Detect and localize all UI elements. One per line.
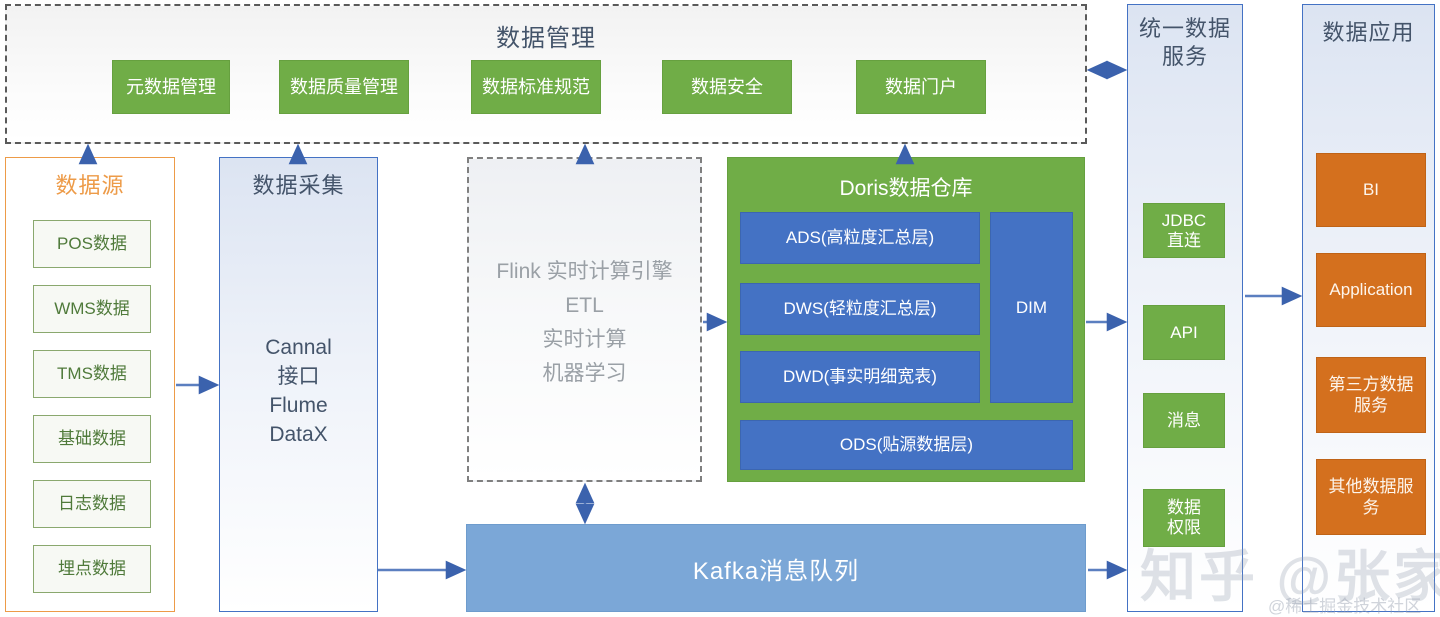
chip-label: 元数据管理	[126, 77, 216, 98]
kafka-label: Kafka消息队列	[693, 551, 859, 586]
chip-label: DIM	[1016, 298, 1047, 318]
chip-label: 日志数据	[58, 494, 126, 514]
chip-label: Application	[1329, 279, 1412, 300]
chip-label: 数据质量管理	[290, 77, 398, 98]
data-source-item-tms[interactable]: TMS数据	[33, 350, 151, 398]
data-source-item-basic[interactable]: 基础数据	[33, 415, 151, 463]
data-collection-panel: 数据采集 Cannal 接口 Flume DataX	[219, 157, 378, 612]
data-application-item-bi[interactable]: BI	[1316, 153, 1426, 227]
chip-label: 数据标准规范	[482, 77, 590, 98]
data-management-item-metadata[interactable]: 元数据管理	[112, 60, 230, 114]
doris-layer-ods[interactable]: ODS(贴源数据层)	[740, 420, 1073, 470]
chip-label: TMS数据	[57, 364, 127, 384]
data-application-item-application[interactable]: Application	[1316, 253, 1426, 327]
chip-label: BI	[1363, 179, 1379, 200]
data-management-title: 数据管理	[7, 18, 1085, 53]
data-application-item-third-party[interactable]: 第三方数据 服务	[1316, 357, 1426, 433]
data-management-item-portal[interactable]: 数据门户	[856, 60, 986, 114]
chip-label: ODS(贴源数据层)	[840, 435, 973, 455]
chip-label: 埋点数据	[58, 559, 126, 579]
data-source-title: 数据源	[6, 172, 174, 200]
chip-label-line1: 第三方数据	[1329, 374, 1414, 395]
data-application-item-other[interactable]: 其他数据服 务	[1316, 459, 1426, 535]
unified-service-item-jdbc[interactable]: JDBC 直连	[1143, 203, 1225, 258]
flink-body: Flink 实时计算引擎 ETL 实时计算 机器学习	[469, 255, 700, 391]
chip-label: 数据安全	[691, 77, 763, 98]
data-management-item-quality[interactable]: 数据质量管理	[279, 60, 409, 114]
doris-layer-dim[interactable]: DIM	[990, 212, 1073, 403]
data-management-item-standard[interactable]: 数据标准规范	[471, 60, 601, 114]
data-source-item-tracking[interactable]: 埋点数据	[33, 545, 151, 593]
chip-label-line2: 服务	[1354, 395, 1388, 416]
chip-label: 基础数据	[58, 429, 126, 449]
chip-label-line1: 其他数据服	[1329, 476, 1414, 497]
architecture-diagram: 数据管理 元数据管理 数据质量管理 数据标准规范 数据安全 数据门户 数据源 P…	[0, 0, 1440, 617]
data-application-title: 数据应用	[1303, 19, 1434, 47]
chip-label: DWD(事实明细宽表)	[783, 367, 937, 387]
data-collection-title: 数据采集	[220, 172, 377, 200]
kafka-message-queue: Kafka消息队列	[466, 524, 1086, 612]
chip-label: POS数据	[57, 234, 127, 254]
unified-service-item-api[interactable]: API	[1143, 305, 1225, 360]
doris-warehouse-panel: Doris数据仓库 ADS(高粒度汇总层) DWS(轻粒度汇总层) DWD(事实…	[727, 157, 1085, 482]
data-collection-body: Cannal 接口 Flume DataX	[220, 333, 377, 449]
doris-layer-dwd[interactable]: DWD(事实明细宽表)	[740, 351, 980, 403]
unified-data-service-title: 统一数据 服务	[1128, 15, 1242, 71]
chip-label: ADS(高粒度汇总层)	[786, 228, 934, 248]
data-management-panel: 数据管理 元数据管理 数据质量管理 数据标准规范 数据安全 数据门户	[5, 4, 1087, 144]
chip-label: API	[1170, 323, 1197, 343]
chip-label: DWS(轻粒度汇总层)	[784, 299, 937, 319]
unified-service-item-message[interactable]: 消息	[1143, 393, 1225, 448]
chip-label: WMS数据	[54, 299, 130, 319]
doris-layer-ads[interactable]: ADS(高粒度汇总层)	[740, 212, 980, 264]
data-source-item-log[interactable]: 日志数据	[33, 480, 151, 528]
data-source-item-wms[interactable]: WMS数据	[33, 285, 151, 333]
chip-label-line2: 务	[1363, 497, 1380, 518]
doris-layer-dws[interactable]: DWS(轻粒度汇总层)	[740, 283, 980, 335]
flink-panel: Flink 实时计算引擎 ETL 实时计算 机器学习	[467, 157, 702, 482]
data-management-item-security[interactable]: 数据安全	[662, 60, 792, 114]
doris-warehouse-title: Doris数据仓库	[728, 172, 1084, 202]
data-application-panel: 数据应用 BI Application 第三方数据 服务 其他数据服 务	[1302, 4, 1435, 612]
chip-label-line1: JDBC	[1162, 211, 1206, 231]
chip-label: 数据门户	[885, 77, 957, 98]
watermark-secondary: @稀土掘金技术社区	[1268, 592, 1421, 617]
data-source-panel: 数据源 POS数据 WMS数据 TMS数据 基础数据 日志数据 埋点数据	[5, 157, 175, 612]
data-source-item-pos[interactable]: POS数据	[33, 220, 151, 268]
chip-label-line1: 数据	[1167, 498, 1201, 518]
chip-label: 消息	[1167, 411, 1201, 431]
chip-label-line2: 直连	[1167, 231, 1201, 251]
unified-data-service-panel: 统一数据 服务 JDBC 直连 API 消息 数据 权限	[1127, 4, 1243, 612]
